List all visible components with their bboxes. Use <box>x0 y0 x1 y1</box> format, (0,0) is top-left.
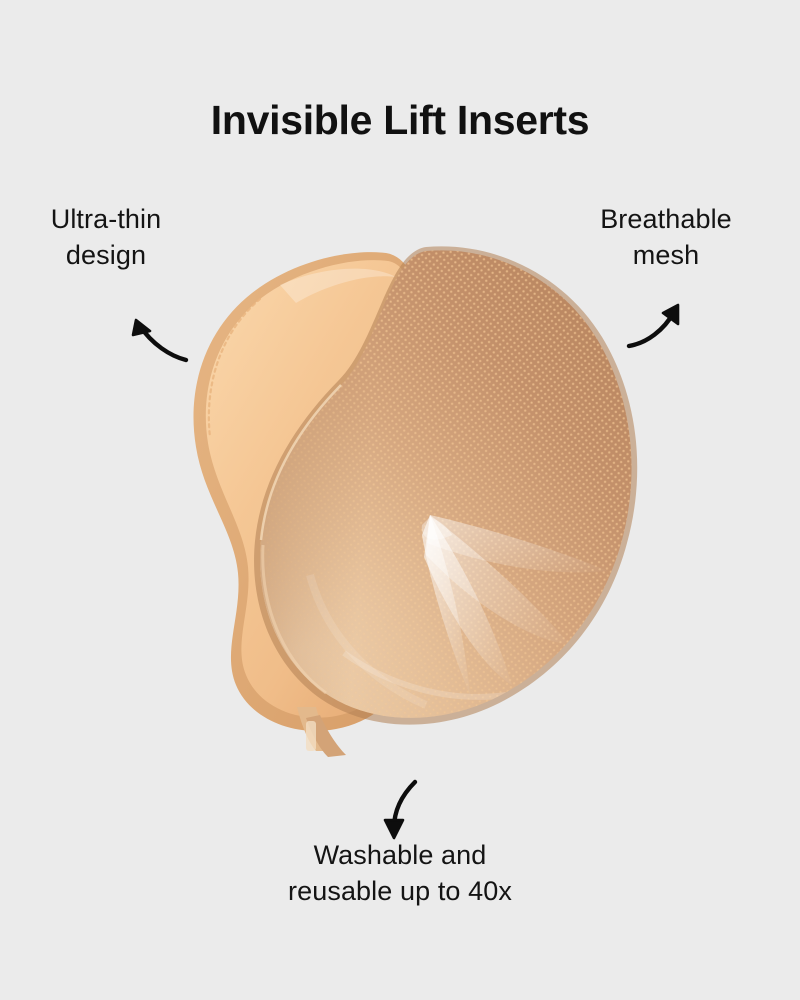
infographic-canvas: Invisible Lift Inserts Ultra-thin design… <box>0 0 800 1000</box>
callout-label-washable-reusable: Washable and reusable up to 40x <box>200 838 600 909</box>
curved-arrow-down-icon <box>385 782 415 838</box>
callout-label-breathable-mesh: Breathable mesh <box>568 202 764 273</box>
product-image <box>130 215 690 775</box>
callout-label-ultra-thin: Ultra-thin design <box>8 202 204 273</box>
page-title: Invisible Lift Inserts <box>0 98 800 143</box>
